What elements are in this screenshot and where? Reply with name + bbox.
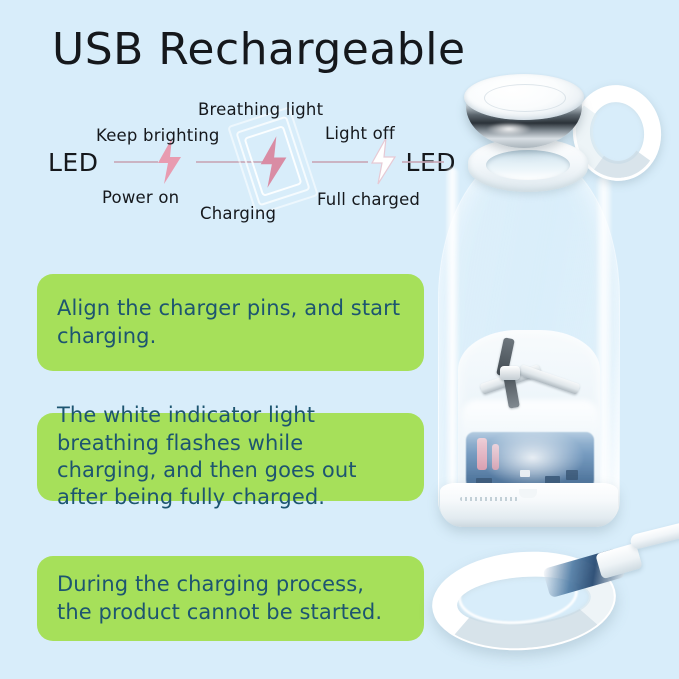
cap-lid-top xyxy=(464,74,584,120)
charging-dock-shading xyxy=(431,548,617,654)
label-full-charged: Full charged xyxy=(317,190,420,209)
blade-arm xyxy=(503,373,520,408)
chrome-cap-band xyxy=(466,96,582,148)
infographic-page: USB Rechargeable LED LED xyxy=(0,0,679,679)
led-status-diagram: LED LED xyxy=(40,98,460,228)
label-power-on: Power on xyxy=(102,188,179,207)
lightning-bolt-breathing-icon xyxy=(252,118,294,204)
label-light-off: Light off xyxy=(325,124,395,143)
bottle-body xyxy=(438,150,620,527)
pcb-chip xyxy=(558,486,568,492)
charging-dock-ring xyxy=(429,546,619,657)
callout-text: During the charging process, the product… xyxy=(57,571,404,626)
pcb-chip xyxy=(545,476,560,485)
carry-handle-loop xyxy=(566,79,668,188)
usb-connector xyxy=(595,543,643,580)
bottle-highlight-right xyxy=(596,176,611,496)
cap-embossed-ring xyxy=(484,84,566,112)
pcb-chip xyxy=(520,470,530,477)
label-charging: Charging xyxy=(200,204,276,223)
blade-arm xyxy=(480,364,542,395)
callout-cannot-start: During the charging process, the product… xyxy=(37,556,424,641)
timeline-segment-3 xyxy=(312,161,368,163)
pcb-chip xyxy=(476,478,492,487)
base-embossed-text xyxy=(460,497,518,501)
pcb-coil xyxy=(477,438,487,470)
pcb-chip xyxy=(566,470,578,480)
motor-pcb-board xyxy=(466,432,594,496)
bottle-collar-opening xyxy=(486,150,570,180)
motor-base xyxy=(440,483,618,527)
blade-arm xyxy=(518,364,580,395)
label-keep-brighting: Keep brighting xyxy=(96,126,220,145)
blade-arm xyxy=(496,337,515,376)
timeline-segment-4 xyxy=(402,161,444,163)
blade-hub xyxy=(500,366,520,380)
led-label-left: LED xyxy=(48,148,98,177)
callout-align: Align the charger pins, and start chargi… xyxy=(37,274,424,371)
label-breathing-light: Breathing light xyxy=(198,100,323,119)
chrome-cap-highlight xyxy=(486,122,532,136)
callout-indicator: The white indicator light breathing flas… xyxy=(37,413,424,501)
page-title: USB Rechargeable xyxy=(52,24,466,75)
inner-jar xyxy=(458,330,600,505)
base-charging-notch xyxy=(519,489,537,498)
pcb-coil xyxy=(492,444,499,470)
usb-cable xyxy=(629,521,679,551)
callout-text: The white indicator light breathing flas… xyxy=(57,402,404,511)
bottle-collar xyxy=(468,138,588,192)
frosted-glass-overlay xyxy=(462,400,598,496)
charging-dock-inner-highlight xyxy=(456,562,580,628)
charging-dock-electronics xyxy=(542,548,625,598)
lightning-bolt-outline-icon xyxy=(366,136,400,190)
callout-text: Align the charger pins, and start chargi… xyxy=(57,295,404,350)
pcb-chip xyxy=(500,484,513,492)
carry-handle-shading xyxy=(569,82,664,184)
